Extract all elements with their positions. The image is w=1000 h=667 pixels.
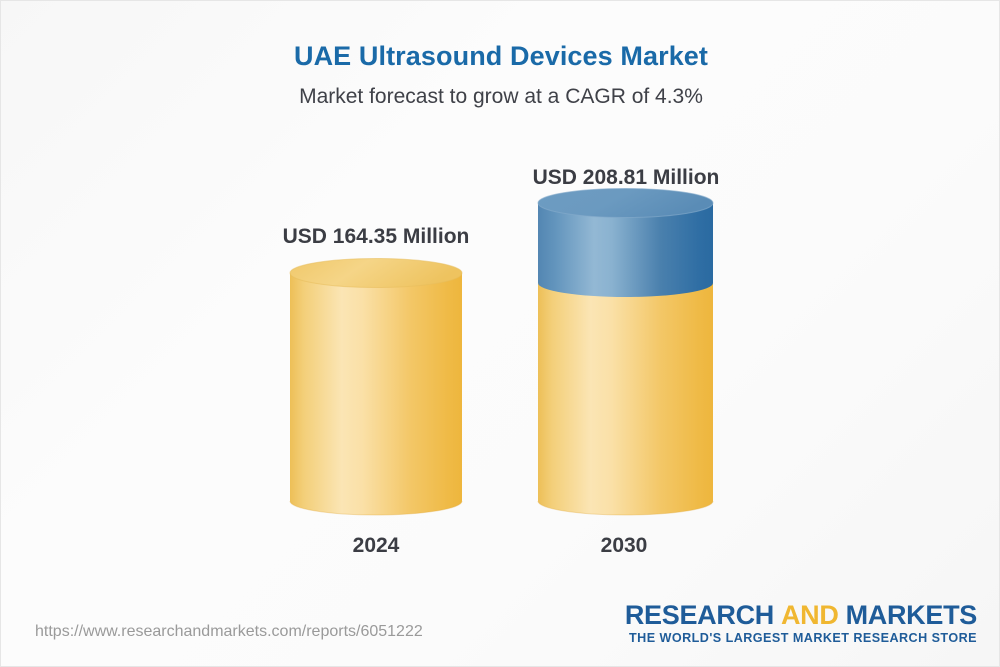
data-label-2024: USD 164.35 Million (266, 225, 486, 249)
research-and-markets-logo[interactable]: RESEARCHANDMARKETS THE WORLD'S LARGEST M… (625, 601, 977, 645)
logo-wordmark: RESEARCHANDMARKETS (625, 601, 977, 629)
category-label-2030: 2030 (534, 534, 714, 558)
cylinder-bars-svg (1, 1, 1000, 667)
logo-word-markets: MARKETS (846, 600, 977, 630)
chart-canvas: UAE Ultrasound Devices Market Market for… (0, 0, 1000, 667)
logo-tagline: THE WORLD'S LARGEST MARKET RESEARCH STOR… (625, 629, 977, 645)
bar-2030 (538, 189, 713, 516)
bar-2024 (290, 259, 462, 516)
chart-plot-area: USD 164.35 Million USD 208.81 Million 20… (1, 1, 1000, 667)
bar-2030-body-gold (538, 283, 713, 515)
bar-2024-body (290, 273, 462, 515)
logo-word-research: RESEARCH (625, 600, 774, 630)
data-label-2030: USD 208.81 Million (516, 166, 736, 190)
logo-word-and: AND (774, 600, 846, 630)
report-url[interactable]: https://www.researchandmarkets.com/repor… (35, 623, 423, 641)
category-label-2024: 2024 (286, 534, 466, 558)
